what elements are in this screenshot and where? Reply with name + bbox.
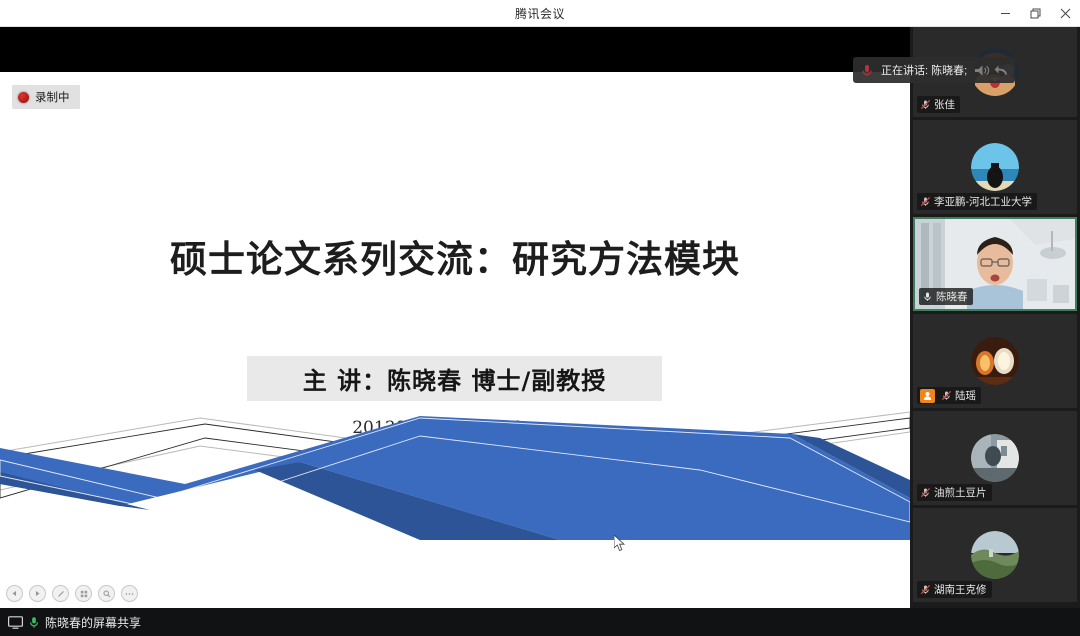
slide-ribbon-graphic xyxy=(0,410,910,610)
nametag: 油煎土豆片 xyxy=(917,484,992,501)
participant-name: 陈晓春 xyxy=(936,289,968,304)
mic-muted-icon xyxy=(920,196,931,207)
slide-title: 硕士论文系列交流：研究方法模块 xyxy=(0,229,910,283)
speaking-label: 正在讲话: 陈晓春; xyxy=(881,62,967,78)
screen-share-label: 陈晓春的屏幕共享 xyxy=(45,614,141,631)
recording-indicator: 录制中 xyxy=(12,85,80,109)
pen-tool-button[interactable] xyxy=(52,585,69,602)
screen-share-status: 陈晓春的屏幕共享 xyxy=(0,614,141,631)
mic-muted-icon xyxy=(920,584,931,595)
monitor-icon xyxy=(8,616,23,629)
undo-icon[interactable] xyxy=(994,64,1008,77)
participant-tile-chenxiaochun[interactable]: 陈晓春 xyxy=(913,217,1077,311)
participant-rail[interactable]: 张佳 xyxy=(910,27,1080,608)
avatar xyxy=(971,434,1019,482)
nametag: 张佳 xyxy=(917,96,960,113)
all-slides-button[interactable] xyxy=(75,585,92,602)
participant-name: 张佳 xyxy=(934,97,955,112)
participant-tile-luyao[interactable]: 陆瑶 xyxy=(913,314,1077,408)
recording-dot-icon xyxy=(18,92,29,103)
presentation-toolbar xyxy=(6,585,138,602)
nametag: 湖南王克修 xyxy=(917,581,992,598)
mic-muted-icon xyxy=(941,390,952,401)
next-slide-button[interactable] xyxy=(29,585,46,602)
tencent-meeting-window: 腾讯会议 硕士论文系列交流：研究方法模块 xyxy=(0,0,1080,636)
minimize-button[interactable] xyxy=(990,0,1020,27)
nametag: 陆瑶 xyxy=(917,387,981,404)
speaking-indicator: 正在讲话: 陈晓春; xyxy=(853,57,1015,83)
avatar xyxy=(971,531,1019,579)
previous-slide-button[interactable] xyxy=(6,585,23,602)
restore-button[interactable] xyxy=(1020,0,1050,27)
mic-icon xyxy=(28,616,40,629)
more-options-button[interactable] xyxy=(121,585,138,602)
speaking-mic-icon xyxy=(860,63,874,77)
shared-screen-area: 硕士论文系列交流：研究方法模块 主 讲：陈晓春 博士/副教授 2013022@h… xyxy=(0,27,910,608)
speaker-icon[interactable] xyxy=(974,64,990,77)
nametag: 陈晓春 xyxy=(919,288,973,305)
participant-tile-liyapeng[interactable]: 李亚鹏-河北工业大学 xyxy=(913,120,1077,214)
participant-tile-youjiantudoupian[interactable]: 油煎土豆片 xyxy=(913,411,1077,505)
participant-name: 李亚鹏-河北工业大学 xyxy=(934,194,1032,209)
mic-icon xyxy=(922,291,933,302)
participant-name: 陆瑶 xyxy=(955,388,976,403)
avatar xyxy=(971,337,1019,385)
participant-name: 湖南王克修 xyxy=(934,582,987,597)
avatar xyxy=(971,143,1019,191)
nametag: 李亚鹏-河北工业大学 xyxy=(917,193,1037,210)
mic-muted-icon xyxy=(920,487,931,498)
recording-label: 录制中 xyxy=(35,89,70,105)
mouse-cursor xyxy=(614,535,626,553)
zoom-button[interactable] xyxy=(98,585,115,602)
close-button[interactable] xyxy=(1050,0,1080,27)
window-title: 腾讯会议 xyxy=(515,5,565,22)
mic-muted-icon xyxy=(920,99,931,110)
slide-presenter-text: 主 讲：陈晓春 博士/副教授 xyxy=(303,361,606,396)
window-titlebar: 腾讯会议 xyxy=(0,0,1080,27)
presentation-slide[interactable]: 硕士论文系列交流：研究方法模块 主 讲：陈晓春 博士/副教授 2013022@h… xyxy=(0,72,910,610)
bottom-status-bar: 陈晓春的屏幕共享 xyxy=(0,608,1080,636)
slide-presenter-box: 主 讲：陈晓春 博士/副教授 xyxy=(247,356,662,401)
toast-icons xyxy=(974,64,1008,77)
participant-tile-hunanwangkexiu[interactable]: 湖南王克修 xyxy=(913,508,1077,602)
host-badge-icon xyxy=(920,389,935,403)
participant-name: 油煎土豆片 xyxy=(934,485,987,500)
window-controls xyxy=(990,0,1080,27)
